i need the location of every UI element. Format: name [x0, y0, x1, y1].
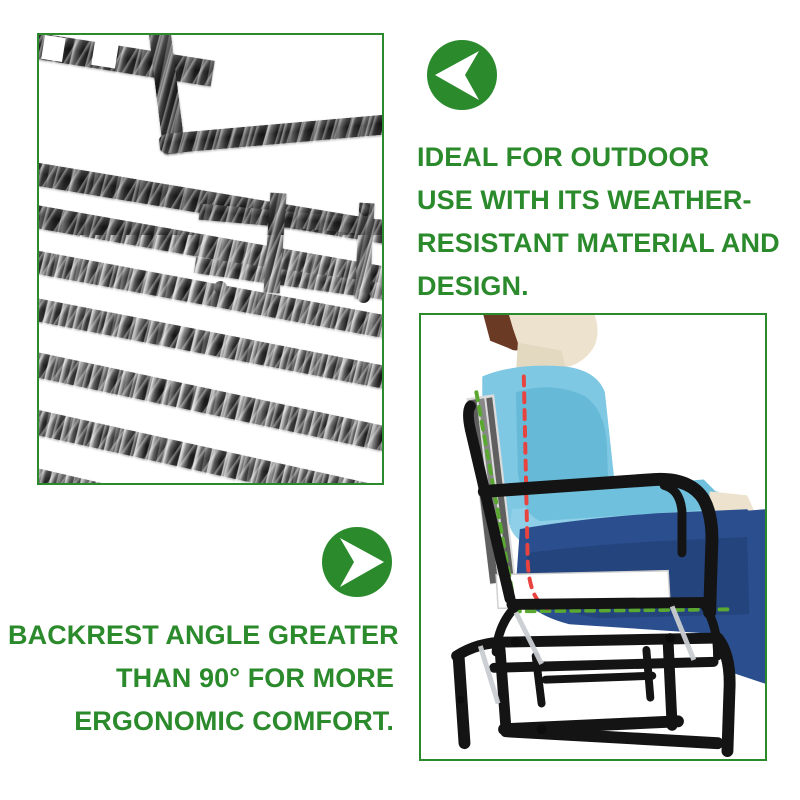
feature-text-line: ERGONOMIC COMFORT. — [8, 700, 394, 743]
rain-photo-inner — [39, 35, 382, 483]
weather-resistant-feature-text: IDEAL FOR OUTDOOR USE WITH ITS WEATHER- … — [417, 136, 797, 308]
backrest-angle-feature-text: BACKREST ANGLE GREATER THAN 90° FOR MORE… — [8, 614, 394, 743]
bench-frame-bolt — [359, 203, 372, 216]
feature-text-line: IDEAL FOR OUTDOOR — [417, 136, 797, 179]
chair-bottom-runner-front — [506, 731, 718, 743]
seat-base-guide-line — [512, 609, 729, 611]
feature-text-line: DESIGN. — [417, 265, 797, 308]
feature-text-line: USE WITH ITS WEATHER- — [417, 179, 797, 222]
backrest-slot — [91, 41, 118, 68]
seated-person-glider-illustration — [421, 315, 765, 759]
chair-front-seat-rail — [512, 602, 708, 604]
bench-frame-bolt — [214, 281, 227, 294]
bench-in-rain-illustration — [39, 35, 382, 483]
backrest-slot — [41, 35, 65, 62]
feature-text-line: BACKREST ANGLE GREATER — [8, 614, 394, 657]
feature-text-line: RESISTANT MATERIAL AND — [417, 222, 797, 265]
ergonomic-photo-panel — [419, 313, 767, 761]
feature-text-line: THAN 90° FOR MORE — [8, 657, 394, 700]
weather-resistant-photo-panel — [37, 33, 384, 485]
bench-frame-bolt — [357, 290, 370, 303]
ergonomic-photo-inner — [421, 315, 765, 759]
arrow-left-icon — [427, 40, 497, 110]
chair-leg-right-inner — [668, 642, 672, 725]
bench-backrest-rail — [39, 35, 215, 87]
arrow-right-icon — [322, 527, 392, 597]
chair-leg-left-inner — [500, 650, 506, 729]
bench-seat-front-edge — [159, 112, 382, 155]
chair-base-second-rail — [494, 662, 713, 668]
infographic-page: IDEAL FOR OUTDOOR USE WITH ITS WEATHER- … — [0, 0, 800, 800]
chair-mid-connector-bar — [546, 676, 653, 680]
